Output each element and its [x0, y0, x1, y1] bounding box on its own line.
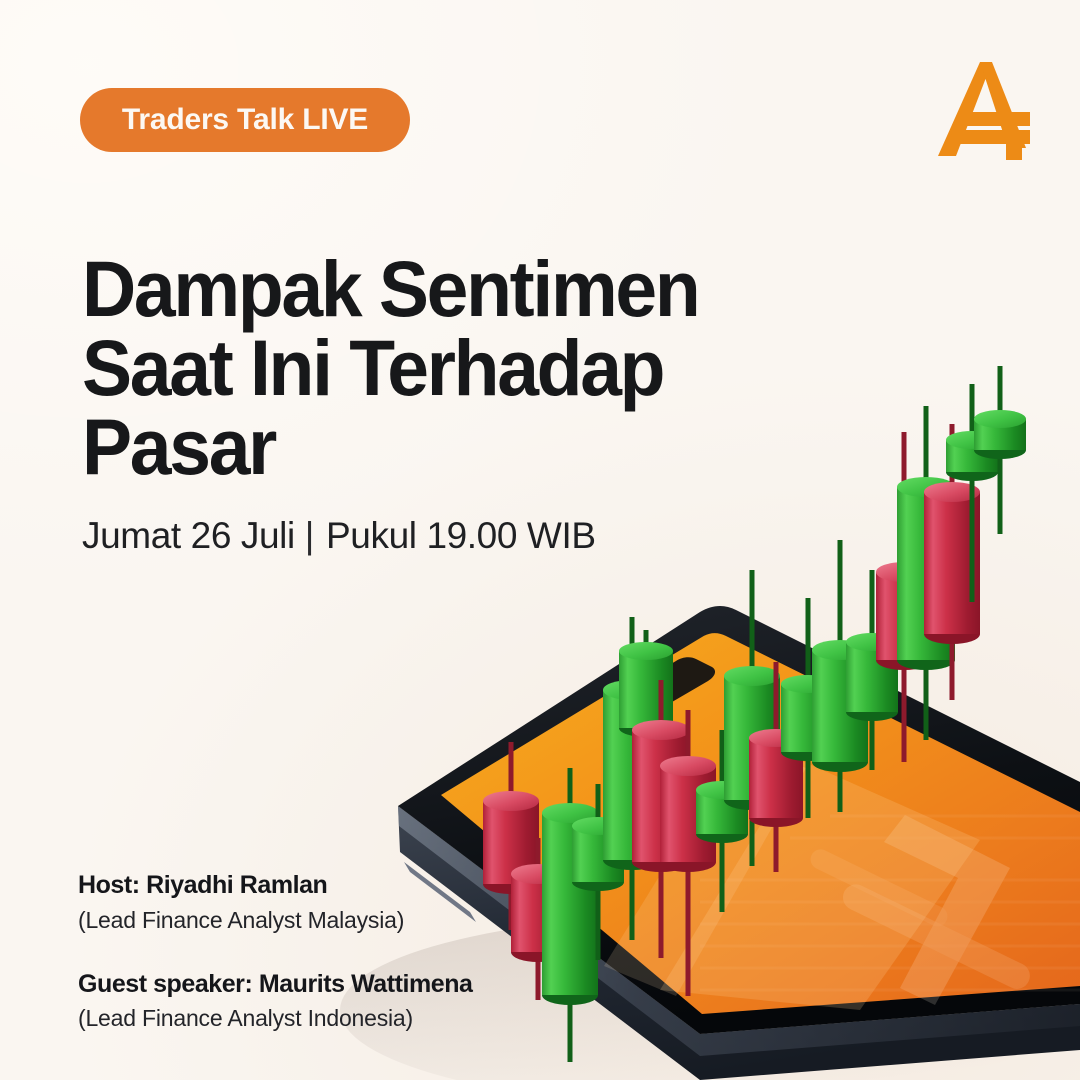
schedule-line: Jumat 26 Juli|Pukul 19.00 WIB — [82, 515, 596, 557]
page-title-line-3: Pasar — [82, 407, 804, 486]
page-title-line-2: Saat Ini Terhadap — [82, 328, 804, 407]
speaker-host-name: Host: Riyadhi Ramlan — [78, 871, 598, 901]
candle-14 — [846, 570, 898, 770]
speaker-list: Host: Riyadhi Ramlan (Lead Finance Analy… — [78, 871, 598, 1034]
candle-13 — [812, 540, 868, 812]
candle-9 — [696, 730, 748, 912]
candle-12 — [781, 598, 835, 818]
candle-18 — [946, 384, 998, 602]
candle-17 — [924, 424, 980, 700]
schedule-separator: | — [305, 515, 314, 557]
speaker-host: Host: Riyadhi Ramlan (Lead Finance Analy… — [78, 871, 598, 935]
brand-logo-icon — [934, 56, 1038, 162]
page-title: Dampak Sentimen Saat Ini Terhadap Pasar — [82, 249, 804, 486]
speaker-host-role: (Lead Finance Analyst Malaysia) — [78, 906, 598, 936]
page-title-line-1: Dampak Sentimen — [82, 249, 804, 328]
candle-15 — [876, 432, 932, 762]
schedule-time: Pukul 19.00 WIB — [326, 515, 596, 556]
candle-6 — [619, 630, 673, 838]
candle-7 — [632, 680, 690, 958]
speaker-guest-name: Guest speaker: Maurits Wattimena — [78, 970, 598, 1000]
speaker-guest-role: (Lead Finance Analyst Indonesia) — [78, 1004, 598, 1034]
candle-8 — [660, 710, 716, 996]
candle-10 — [724, 570, 780, 866]
schedule-date: Jumat 26 Juli — [82, 515, 295, 556]
live-badge[interactable]: Traders Talk LIVE — [80, 88, 410, 152]
poster-canvas: Traders Talk LIVE Dampak Sentimen Saat I… — [0, 0, 1080, 1080]
speaker-guest: Guest speaker: Maurits Wattimena (Lead F… — [78, 970, 598, 1034]
candle-11 — [749, 662, 803, 872]
candle-5 — [603, 617, 661, 940]
candle-16 — [897, 406, 955, 740]
candle-19 — [974, 366, 1026, 534]
live-badge-label: Traders Talk LIVE — [122, 103, 368, 137]
